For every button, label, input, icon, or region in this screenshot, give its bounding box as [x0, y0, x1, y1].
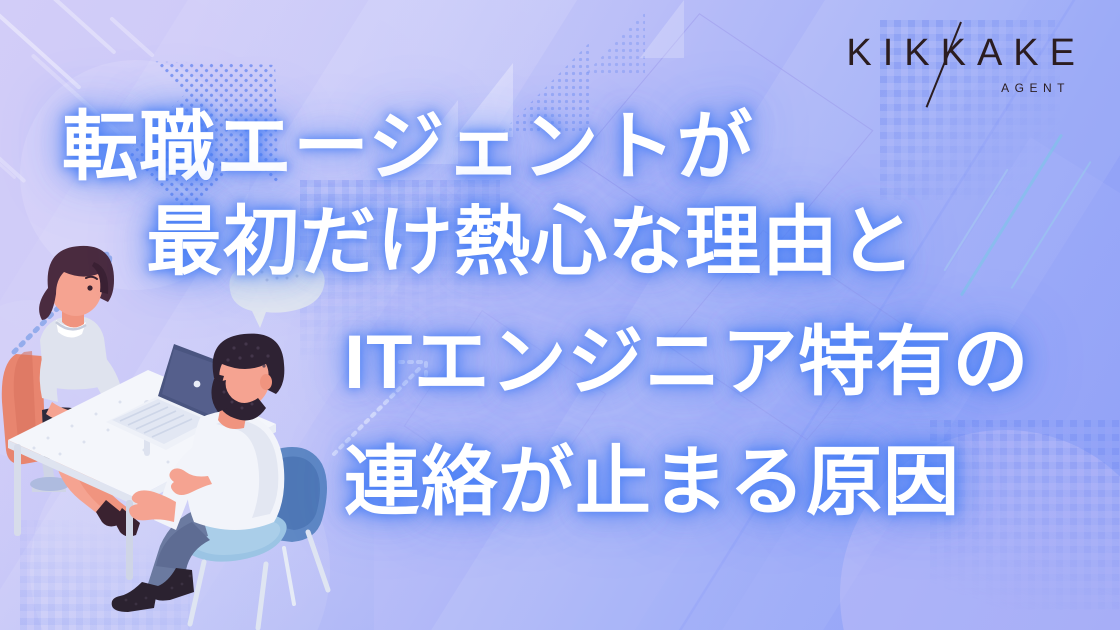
headline-line-3: ITエンジニア特有の	[344, 325, 1030, 401]
headline-line-1: 転職エージェントが	[62, 110, 753, 186]
headline-line-2: 最初だけ熱心な理由と	[146, 205, 916, 281]
headline-line-4: 連絡が止まる原因	[344, 445, 960, 521]
headline-block: 転職エージェントが 最初だけ熱心な理由と ITエンジニア特有の 連絡が止まる原因	[0, 0, 1120, 630]
hero-banner: KIKKAKE AGENT 転職エージェントが 最初だけ熱心な理由と ITエンジ…	[0, 0, 1120, 630]
